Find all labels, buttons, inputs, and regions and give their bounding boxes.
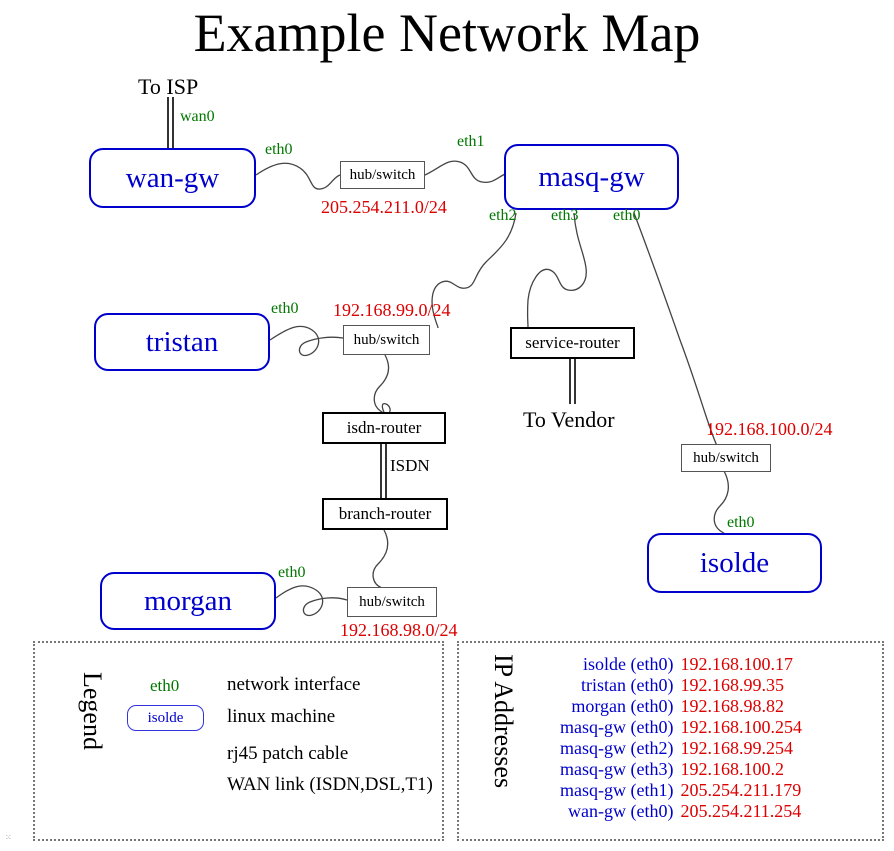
- interface-label-isolde-eth0: eth0: [727, 514, 755, 532]
- interface-label-masqgw-eth2: eth2: [489, 207, 517, 225]
- ip-address: 192.168.99.35: [680, 675, 802, 696]
- cable-wangw-to-hub1: [256, 163, 340, 189]
- page-title: Example Network Map: [0, 2, 894, 64]
- node-morgan[interactable]: morgan: [100, 572, 276, 630]
- link-label-isdn: ISDN: [390, 456, 430, 476]
- hub-switch-192-168-99[interactable]: hub/switch: [343, 325, 430, 355]
- ip-addresses-table: isolde (eth0) 192.168.100.17 tristan (et…: [560, 654, 802, 822]
- cable-masqgw-eth0-to-hub3: [634, 213, 718, 448]
- subnet-label-192-168-98: 192.168.98.0/24: [340, 620, 458, 641]
- wan-link-isdn: [381, 443, 386, 499]
- ip-addresses-title: IP Addresses: [488, 654, 518, 788]
- interface-label-tristan-eth0: eth0: [271, 300, 299, 318]
- hub-switch-label: hub/switch: [359, 594, 425, 611]
- ip-address: 192.168.98.82: [680, 696, 802, 717]
- ip-host: wan-gw (eth0): [560, 801, 680, 822]
- ip-address: 192.168.100.254: [680, 717, 802, 738]
- node-isdn-router[interactable]: isdn-router: [322, 412, 446, 444]
- ip-host: masq-gw (eth1): [560, 780, 680, 801]
- subnet-label-192-168-99: 192.168.99.0/24: [333, 300, 451, 321]
- ip-host: masq-gw (eth3): [560, 759, 680, 780]
- hub-switch-label: hub/switch: [354, 332, 420, 349]
- node-service-router-label: service-router: [525, 333, 619, 353]
- cable-masqgw-eth3-to-service-router: [528, 213, 587, 327]
- legend-description-network-interface: network interface: [227, 674, 360, 696]
- interface-label-masqgw-eth0: eth0: [613, 207, 641, 225]
- ip-host: isolde (eth0): [560, 654, 680, 675]
- hub-switch-192-168-98[interactable]: hub/switch: [347, 587, 437, 617]
- node-morgan-label: morgan: [144, 585, 232, 618]
- node-isolde[interactable]: isolde: [647, 533, 822, 593]
- legend-symbol-interface-label: eth0: [150, 676, 179, 696]
- node-service-router[interactable]: service-router: [510, 327, 635, 359]
- interface-label-masqgw-eth3: eth3: [551, 207, 579, 225]
- node-isdn-router-label: isdn-router: [347, 418, 422, 438]
- table-row: tristan (eth0) 192.168.99.35: [560, 675, 802, 696]
- interface-label-wangw-eth0: eth0: [265, 141, 293, 159]
- ip-address: 205.254.211.179: [680, 780, 802, 801]
- cable-tristan-to-hub2: [270, 326, 343, 355]
- wan-link-to-isp: [168, 97, 173, 150]
- ip-host: morgan (eth0): [560, 696, 680, 717]
- legend-description-rj45-patch-cable: rj45 patch cable: [227, 743, 348, 765]
- hub-switch-label: hub/switch: [693, 450, 759, 467]
- table-row: wan-gw (eth0) 205.254.211.254: [560, 801, 802, 822]
- node-wan-gw-label: wan-gw: [126, 162, 219, 195]
- cable-hub2-to-isdn-router: [374, 355, 390, 414]
- table-row: isolde (eth0) 192.168.100.17: [560, 654, 802, 675]
- table-row: masq-gw (eth2) 192.168.99.254: [560, 738, 802, 759]
- hub-switch-205-254-211[interactable]: hub/switch: [340, 161, 425, 189]
- subnet-label-192-168-100: 192.168.100.0/24: [706, 419, 833, 440]
- table-row: morgan (eth0) 192.168.98.82: [560, 696, 802, 717]
- node-masq-gw[interactable]: masq-gw: [504, 144, 679, 210]
- node-branch-router[interactable]: branch-router: [322, 498, 448, 530]
- node-wan-gw[interactable]: wan-gw: [89, 148, 256, 208]
- legend-description-linux-machine: linux machine: [227, 706, 335, 728]
- node-branch-router-label: branch-router: [339, 504, 432, 524]
- ip-addresses-table-body: isolde (eth0) 192.168.100.17 tristan (et…: [560, 654, 802, 822]
- legend-title: Legend: [77, 672, 107, 750]
- cable-morgan-to-hub4: [276, 586, 347, 616]
- interface-label-wan0: wan0: [180, 108, 215, 126]
- node-tristan[interactable]: tristan: [94, 313, 270, 371]
- cable-branch-router-to-hub4: [373, 530, 388, 588]
- ip-host: masq-gw (eth0): [560, 717, 680, 738]
- table-row: masq-gw (eth1) 205.254.211.179: [560, 780, 802, 801]
- interface-label-masqgw-eth1: eth1: [457, 133, 485, 151]
- ip-address: 192.168.100.17: [680, 654, 802, 675]
- ip-host: masq-gw (eth2): [560, 738, 680, 759]
- wan-link-to-vendor: [570, 358, 575, 404]
- table-row: masq-gw (eth0) 192.168.100.254: [560, 717, 802, 738]
- hub-switch-192-168-100[interactable]: hub/switch: [681, 444, 771, 472]
- hub-switch-label: hub/switch: [350, 167, 416, 184]
- network-map-canvas: Example Network Map: [0, 0, 894, 851]
- node-tristan-label: tristan: [146, 326, 219, 359]
- external-link-to-vendor: To Vendor: [523, 407, 615, 433]
- ip-address: 205.254.211.254: [680, 801, 802, 822]
- legend-description-wan-link: WAN link (ISDN,DSL,T1): [227, 774, 433, 796]
- legend-symbol-linux-machine-box: isolde: [127, 705, 204, 731]
- node-masq-gw-label: masq-gw: [538, 161, 644, 194]
- external-link-to-isp: To ISP: [138, 74, 198, 100]
- interface-label-morgan-eth0: eth0: [278, 564, 306, 582]
- legend-symbol-linux-machine-label: isolde: [148, 710, 184, 727]
- cable-hub1-to-masqgw: [425, 161, 505, 182]
- ip-address: 192.168.100.2: [680, 759, 802, 780]
- ip-host: tristan (eth0): [560, 675, 680, 696]
- node-isolde-label: isolde: [700, 547, 769, 580]
- corner-artifact: ⁙: [5, 833, 12, 842]
- ip-address: 192.168.99.254: [680, 738, 802, 759]
- subnet-label-205-254-211: 205.254.211.0/24: [321, 197, 447, 218]
- table-row: masq-gw (eth3) 192.168.100.2: [560, 759, 802, 780]
